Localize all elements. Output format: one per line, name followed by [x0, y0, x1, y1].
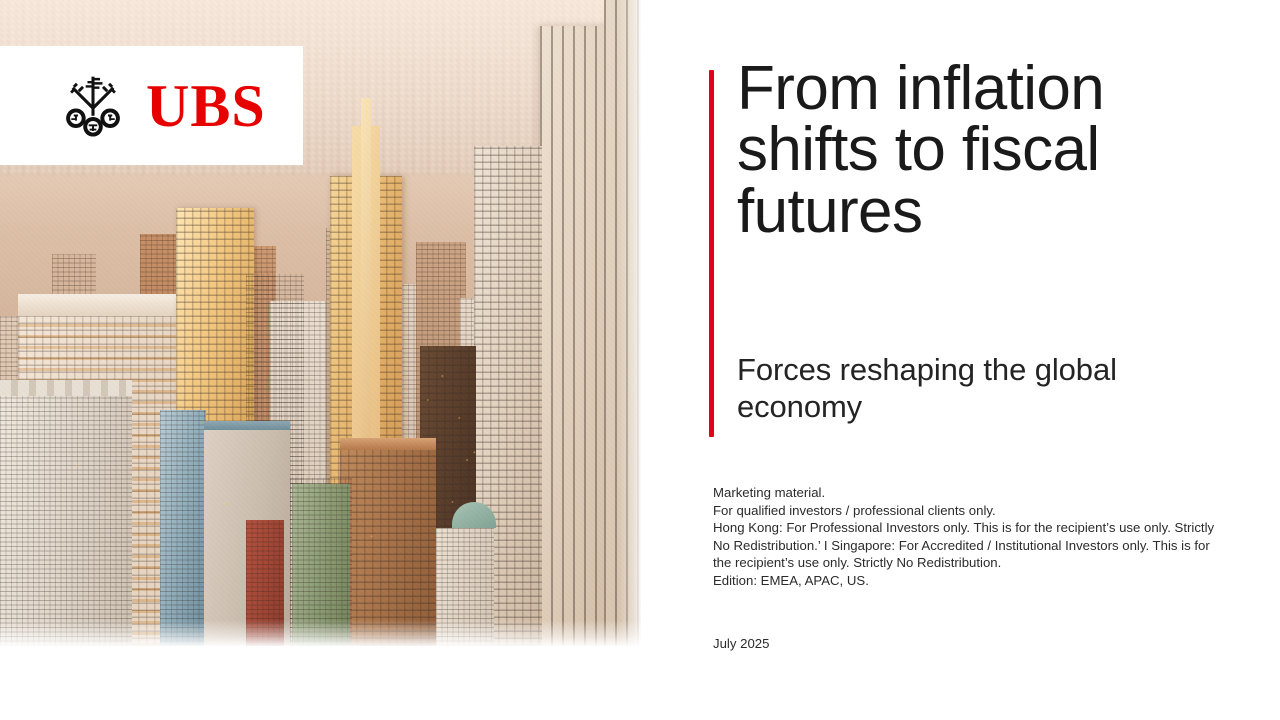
report-cover-slide: UBS From inflation shifts to fiscal futu… [0, 0, 1280, 720]
page-subtitle: Forces reshaping the global economy [737, 352, 1237, 425]
disclaimer-line-3: Hong Kong: For Professional Investors on… [713, 519, 1225, 572]
photo-right-fade [619, 0, 641, 646]
disclaimer-line-4: Edition: EMEA, APAC, US. [713, 572, 1225, 590]
page-title: From inflation shifts to fiscal futures [737, 58, 1237, 242]
disclaimer-line-1: Marketing material. [713, 484, 1225, 502]
cover-content: From inflation shifts to fiscal futures … [700, 0, 1260, 720]
red-accent-bar [709, 70, 714, 437]
photo-bottom-fade [0, 620, 641, 646]
ubs-logo-plate: UBS [0, 46, 303, 165]
disclaimer-line-2: For qualified investors / professional c… [713, 502, 1225, 520]
publication-date: July 2025 [713, 636, 769, 651]
ubs-wordmark: UBS [146, 76, 266, 136]
disclaimer-block: Marketing material. For qualified invest… [713, 484, 1225, 589]
ubs-three-keys-icon [62, 73, 124, 139]
